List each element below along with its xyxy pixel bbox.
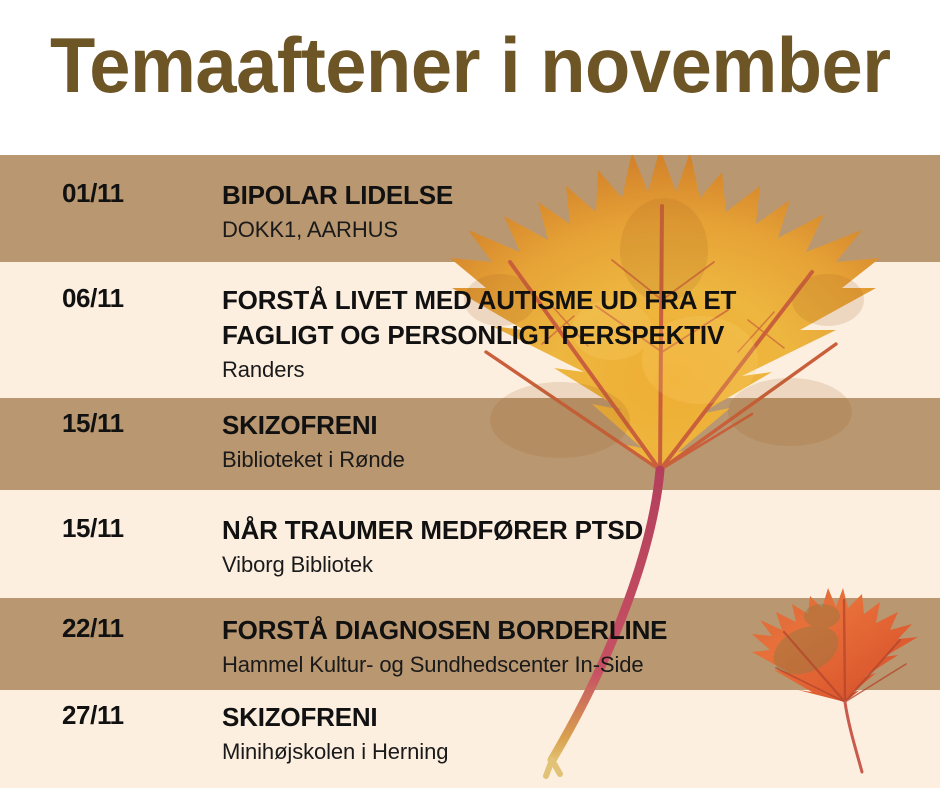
event-date: 27/11	[62, 700, 124, 731]
event-body: BIPOLAR LIDELSE DOKK1, AARHUS	[222, 178, 930, 245]
event-body: NÅR TRAUMER MEDFØRER PTSD Viborg Bibliot…	[222, 513, 930, 580]
event-venue: Hammel Kultur- og Sundhedscenter In-Side	[222, 650, 930, 680]
event-date: 01/11	[62, 178, 124, 209]
event-venue: Viborg Bibliotek	[222, 550, 930, 580]
event-venue: DOKK1, AARHUS	[222, 215, 930, 245]
poster-canvas: Temaaftener i november 01/11 BIPOLAR LID…	[0, 0, 940, 788]
event-date: 22/11	[62, 613, 124, 644]
event-date: 15/11	[62, 513, 124, 544]
event-venue: Randers	[222, 355, 930, 385]
event-body: SKIZOFRENI Biblioteket i Rønde	[222, 408, 930, 475]
event-title: NÅR TRAUMER MEDFØRER PTSD	[222, 513, 930, 548]
event-venue: Minihøjskolen i Herning	[222, 737, 930, 767]
event-body: SKIZOFRENI Minihøjskolen i Herning	[222, 700, 930, 767]
event-body: FORSTÅ LIVET MED AUTISME UD FRA ET FAGLI…	[222, 283, 930, 385]
event-title: SKIZOFRENI	[222, 408, 930, 443]
event-title: FORSTÅ LIVET MED AUTISME UD FRA ET FAGLI…	[222, 283, 930, 353]
event-title: FORSTÅ DIAGNOSEN BORDERLINE	[222, 613, 930, 648]
event-date: 06/11	[62, 283, 124, 314]
event-venue: Biblioteket i Rønde	[222, 445, 930, 475]
page-title: Temaaftener i november	[50, 22, 867, 108]
event-title: BIPOLAR LIDELSE	[222, 178, 930, 213]
event-date: 15/11	[62, 408, 124, 439]
event-body: FORSTÅ DIAGNOSEN BORDERLINE Hammel Kultu…	[222, 613, 930, 680]
header-strip: Temaaftener i november	[0, 0, 940, 155]
event-title: SKIZOFRENI	[222, 700, 930, 735]
